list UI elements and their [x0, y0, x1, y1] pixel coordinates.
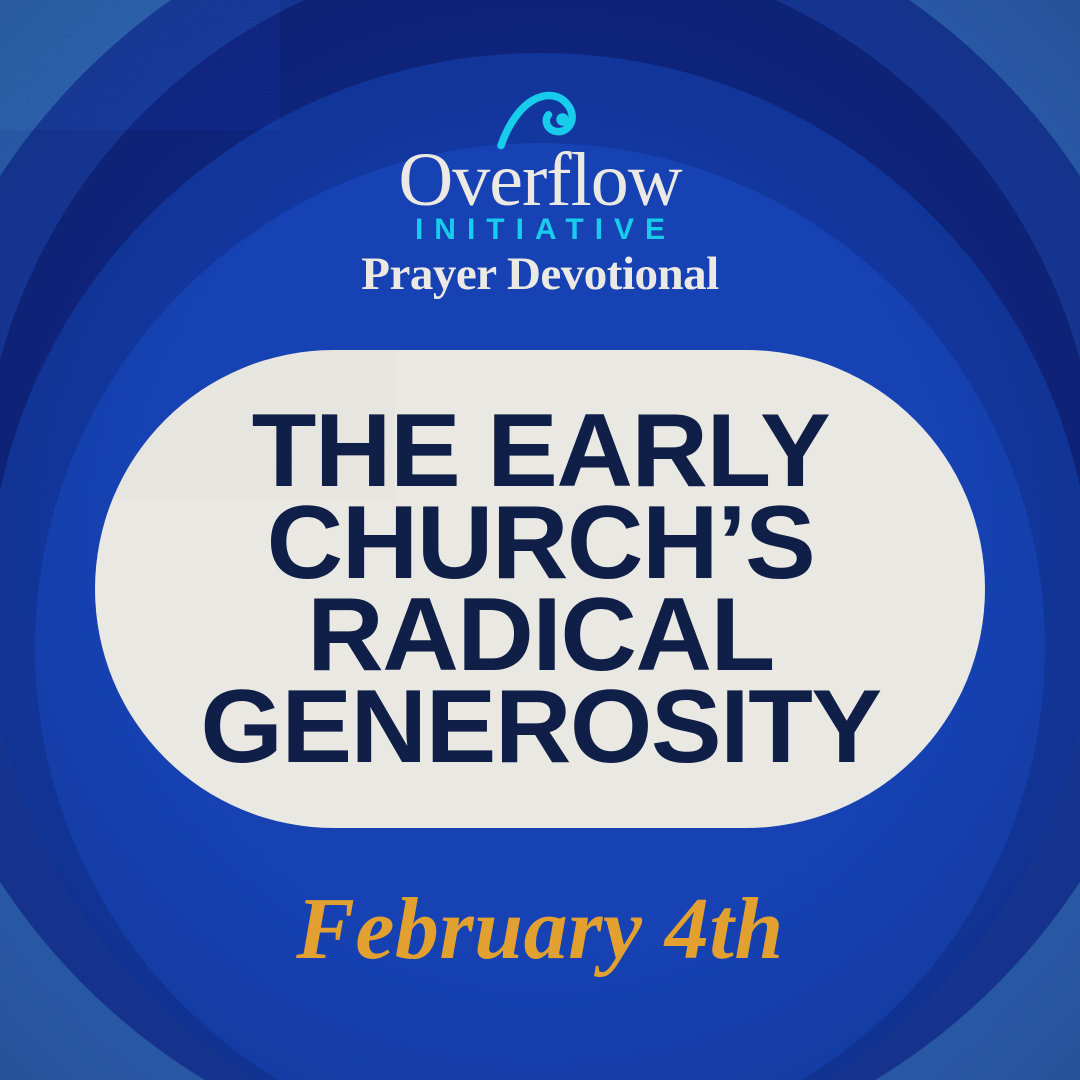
- page-title: THE EARLY CHURCH’S RADICAL GENEROSITY: [165, 405, 915, 773]
- devotional-poster: Overflow INITIATIVE Prayer Devotional TH…: [0, 0, 1080, 1080]
- brand-logo-lockup: Overflow INITIATIVE Prayer Devotional: [0, 88, 1080, 301]
- brand-series-title: Prayer Devotional: [361, 249, 718, 301]
- date-label: February 4th: [0, 886, 1080, 974]
- brand-wordmark: Overflow: [398, 144, 681, 217]
- headline-pill: THE EARLY CHURCH’S RADICAL GENEROSITY: [95, 350, 985, 828]
- brand-initiative: INITIATIVE: [404, 213, 676, 248]
